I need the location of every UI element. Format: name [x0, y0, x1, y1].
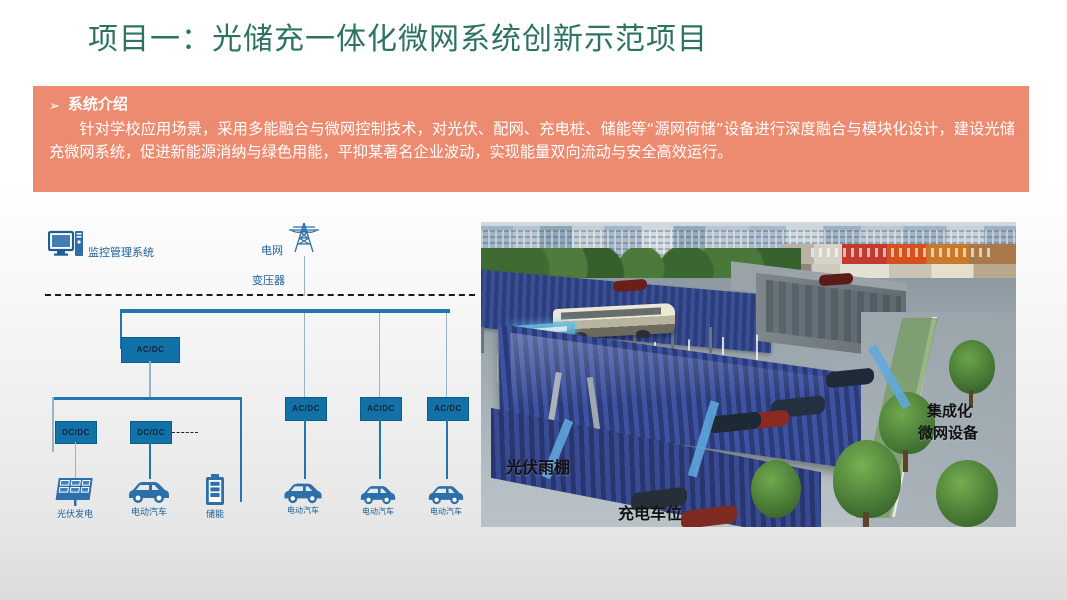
transformer-label: 变压器 — [252, 272, 285, 288]
device-pv: 光伏发电 — [54, 476, 96, 520]
electric-car-icon — [425, 481, 467, 505]
converter-acdc-feeder-3[interactable]: AC/DC — [427, 397, 469, 421]
converter-label: DC/DC — [62, 429, 90, 437]
dcdc-ev-down-line — [149, 442, 151, 479]
device-ev-ac-1: 电动汽车 — [280, 478, 326, 516]
electric-car-icon — [126, 476, 172, 504]
busbar-to-feeder-3 — [446, 313, 447, 397]
photo-label-pv-canopy: 光伏雨棚 — [506, 454, 570, 478]
intro-body-text: 针对学校应用场景，采用多能融合与微网控制技术，对光伏、配网、充电桩、储能等“源网… — [49, 118, 1015, 164]
converter-label: AC/DC — [367, 405, 395, 413]
street-tree-3 — [949, 340, 995, 394]
converter-acdc-main[interactable]: AC/DC — [121, 337, 180, 363]
converter-acdc-feeder-2[interactable]: AC/DC — [360, 397, 402, 421]
device-label: 电动汽车 — [430, 506, 462, 517]
dcdc-pv-down-line — [75, 442, 76, 479]
device-label: 电动汽车 — [131, 505, 167, 518]
acdc-feeder-3-down-line — [446, 419, 448, 479]
photo-label-microgrid-line1: 集成化 — [927, 400, 972, 421]
dc-busbar — [52, 397, 242, 400]
monitor-node — [48, 230, 84, 258]
busbar-to-feeder-1 — [304, 313, 305, 397]
device-ev-dc: 电动汽车 — [126, 476, 172, 518]
acdc-feeder-2-down-line — [379, 419, 381, 479]
grid-label: 电网 — [261, 242, 283, 258]
dc-bus-right-drop — [240, 397, 242, 502]
acdc-feeder-1-down-line — [304, 419, 306, 479]
device-storage: 储能 — [202, 474, 228, 520]
slide-canvas: 项目一：光储充一体化微网系统创新示范项目 ➢ 系统介绍 针对学校应用场景，采用多… — [0, 0, 1067, 600]
street-tree-4 — [751, 460, 801, 518]
photo-label-microgrid-line2: 微网设备 — [918, 422, 978, 443]
street-tree-5 — [936, 460, 998, 527]
device-label: 电动汽车 — [287, 505, 319, 516]
converter-acdc-feeder-1[interactable]: AC/DC — [285, 397, 327, 421]
system-introduction-panel: ➢ 系统介绍 针对学校应用场景，采用多能融合与微网控制技术，对光伏、配网、充电桩… — [33, 86, 1029, 192]
monitor-label: 监控管理系统 — [88, 244, 154, 260]
monitoring-computer-icon — [48, 230, 84, 258]
electric-car-icon — [280, 478, 326, 504]
arrow-bullet-icon: ➢ — [49, 99, 60, 112]
converter-dcdc-ev[interactable]: DC/DC — [130, 421, 172, 444]
intro-heading-row: ➢ 系统介绍 — [49, 94, 1015, 116]
solar-panel-icon — [54, 476, 96, 506]
photo-label-charging-bay: 充电车位 — [618, 500, 682, 524]
converter-label: AC/DC — [292, 405, 320, 413]
dc-bus-left-drop — [52, 397, 54, 452]
dcdc-ev-dashed-link — [172, 432, 198, 433]
device-label: 电动汽车 — [362, 506, 394, 517]
grid-boundary-dashed-line — [45, 294, 475, 296]
grid-node — [285, 220, 323, 254]
bus-wheel-front — [636, 330, 650, 338]
main-busbar — [120, 309, 450, 313]
system-architecture-diagram: 监控管理系统 电网 变压器 — [30, 212, 480, 532]
battery-icon — [202, 474, 228, 506]
busbar-to-feeder-2 — [379, 313, 380, 397]
converter-label: AC/DC — [137, 346, 165, 354]
project-rendering-photo: 光伏雨棚 充电车位 集成化 微网设备 — [481, 222, 1016, 527]
converter-label: DC/DC — [137, 429, 165, 437]
acdc-main-down-line — [149, 361, 151, 397]
device-ev-ac-2: 电动汽车 — [357, 481, 399, 517]
street-tree-2 — [833, 440, 901, 518]
converter-dcdc-pv[interactable]: DC/DC — [55, 421, 97, 444]
electric-car-icon — [357, 481, 399, 505]
street-tree-2-trunk — [863, 512, 869, 527]
page-title: 项目一：光储充一体化微网系统创新示范项目 — [88, 20, 708, 60]
shop-signage-text — [811, 248, 991, 257]
intro-heading-text: 系统介绍 — [68, 94, 128, 116]
converter-label: AC/DC — [434, 405, 462, 413]
grid-drop-line — [304, 256, 305, 296]
street-tree-1-trunk — [903, 450, 908, 472]
device-label: 储能 — [206, 507, 224, 520]
device-ev-ac-3: 电动汽车 — [425, 481, 467, 517]
power-tower-icon — [285, 220, 323, 254]
device-label: 光伏发电 — [57, 507, 93, 520]
